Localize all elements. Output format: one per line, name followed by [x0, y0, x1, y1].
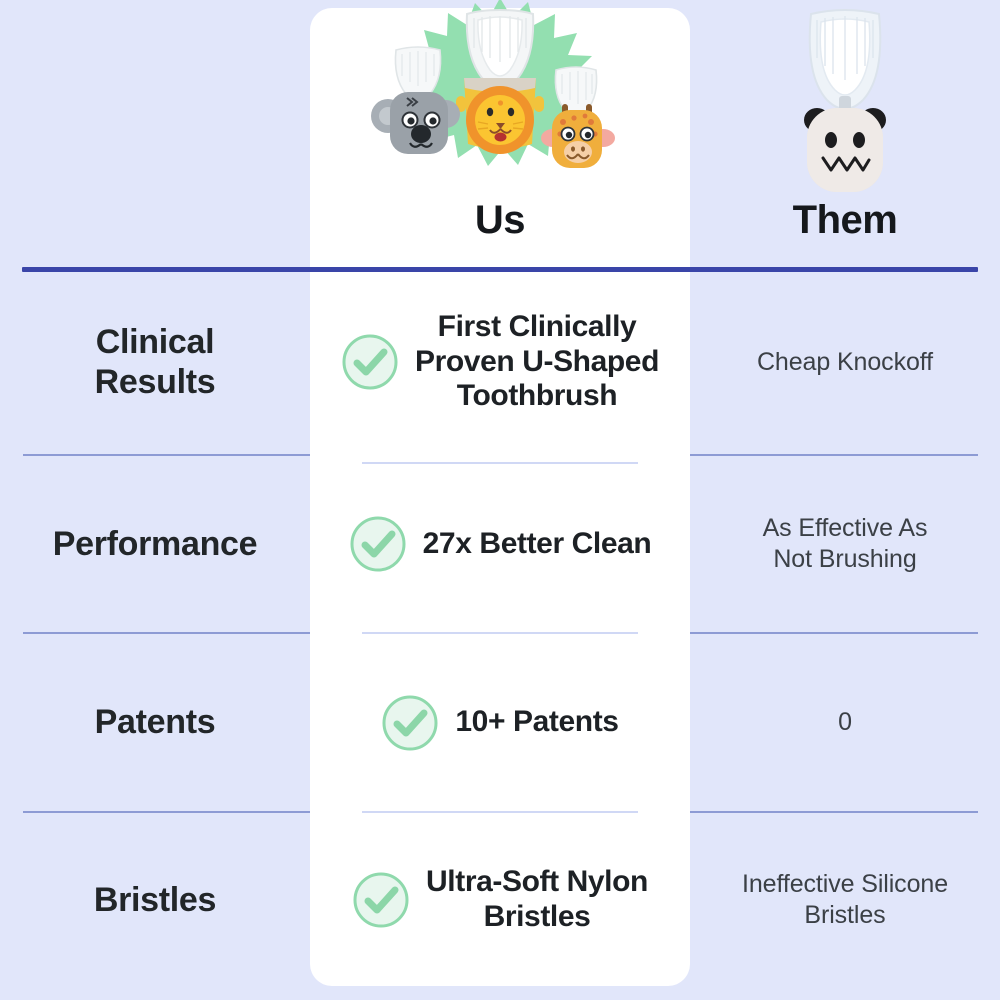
- row-us-bristles: Ultra-Soft Nylon Bristles: [310, 865, 690, 935]
- row-us-clinical-results: First Clinically Proven U-Shaped Toothbr…: [310, 310, 690, 414]
- row-label-line: Bristles: [14, 880, 296, 920]
- header-divider-rule: [22, 267, 978, 272]
- row-separator-left: [23, 811, 310, 813]
- row-us-line: Proven U-Shaped: [415, 345, 659, 380]
- row-separator-left: [23, 632, 310, 634]
- row-them-bristles: Ineffective Silicone Bristles: [690, 869, 1000, 931]
- row-us-line: Ultra-Soft Nylon: [426, 865, 648, 900]
- row-us-line: First Clinically: [415, 310, 659, 345]
- row-us-line: 10+ Patents: [455, 705, 618, 740]
- row-them-line: Cheap Knockoff: [708, 347, 982, 378]
- table-row: Bristles Ultra-Soft Nylon Bristles Ineff…: [0, 812, 1000, 988]
- them-product-image: [708, 0, 982, 198]
- check-circle-icon: [381, 694, 439, 752]
- table-row: Performance 27x Better Clean As Effectiv…: [0, 455, 1000, 633]
- table-header-row: Us: [0, 0, 1000, 269]
- row-them-line: 0: [708, 707, 982, 738]
- header-them-cell: Them: [690, 0, 1000, 269]
- row-label-patents: Patents: [0, 702, 310, 742]
- row-separator-center: [362, 632, 638, 634]
- check-circle-icon: [349, 515, 407, 573]
- row-them-clinical-results: Cheap Knockoff: [690, 347, 1000, 378]
- header-label-cell: [0, 0, 310, 269]
- row-us-line: 27x Better Clean: [423, 527, 652, 562]
- row-label-clinical-results: Clinical Results: [0, 322, 310, 402]
- header-us-cell: Us: [310, 0, 690, 269]
- row-them-patents: 0: [690, 707, 1000, 738]
- row-us-performance: 27x Better Clean: [310, 515, 690, 573]
- row-them-line: Bristles: [708, 900, 982, 931]
- header-us-label: Us: [475, 198, 525, 269]
- row-them-line: Not Brushing: [708, 544, 982, 575]
- row-them-performance: As Effective As Not Brushing: [690, 513, 1000, 575]
- header-them-label: Them: [793, 198, 898, 269]
- row-label-performance: Performance: [0, 524, 310, 564]
- comparison-table: Us: [0, 0, 1000, 1000]
- row-us-line: Toothbrush: [415, 379, 659, 414]
- us-toothbrushes-illustration: [360, 0, 640, 182]
- row-separator-right: [690, 632, 978, 634]
- row-label-line: Results: [14, 362, 296, 402]
- row-them-line: As Effective As: [708, 513, 982, 544]
- row-label-line: Patents: [14, 702, 296, 742]
- row-them-line: Ineffective Silicone: [708, 869, 982, 900]
- row-separator-center: [362, 811, 638, 813]
- check-circle-icon: [341, 333, 399, 391]
- us-product-image: [330, 0, 670, 182]
- row-separator-right: [690, 454, 978, 456]
- row-separator-left: [23, 454, 310, 456]
- check-circle-icon: [352, 871, 410, 929]
- row-us-patents: 10+ Patents: [310, 694, 690, 752]
- row-label-line: Performance: [14, 524, 296, 564]
- table-row: Clinical Results First Clinically Proven…: [0, 269, 1000, 455]
- row-separator-right: [690, 811, 978, 813]
- row-separator-center: [362, 462, 638, 464]
- row-label-line: Clinical: [14, 322, 296, 362]
- row-label-bristles: Bristles: [0, 880, 310, 920]
- table-row: Patents 10+ Patents 0: [0, 633, 1000, 812]
- row-us-line: Bristles: [426, 900, 648, 935]
- them-toothbrush-illustration: [765, 4, 925, 194]
